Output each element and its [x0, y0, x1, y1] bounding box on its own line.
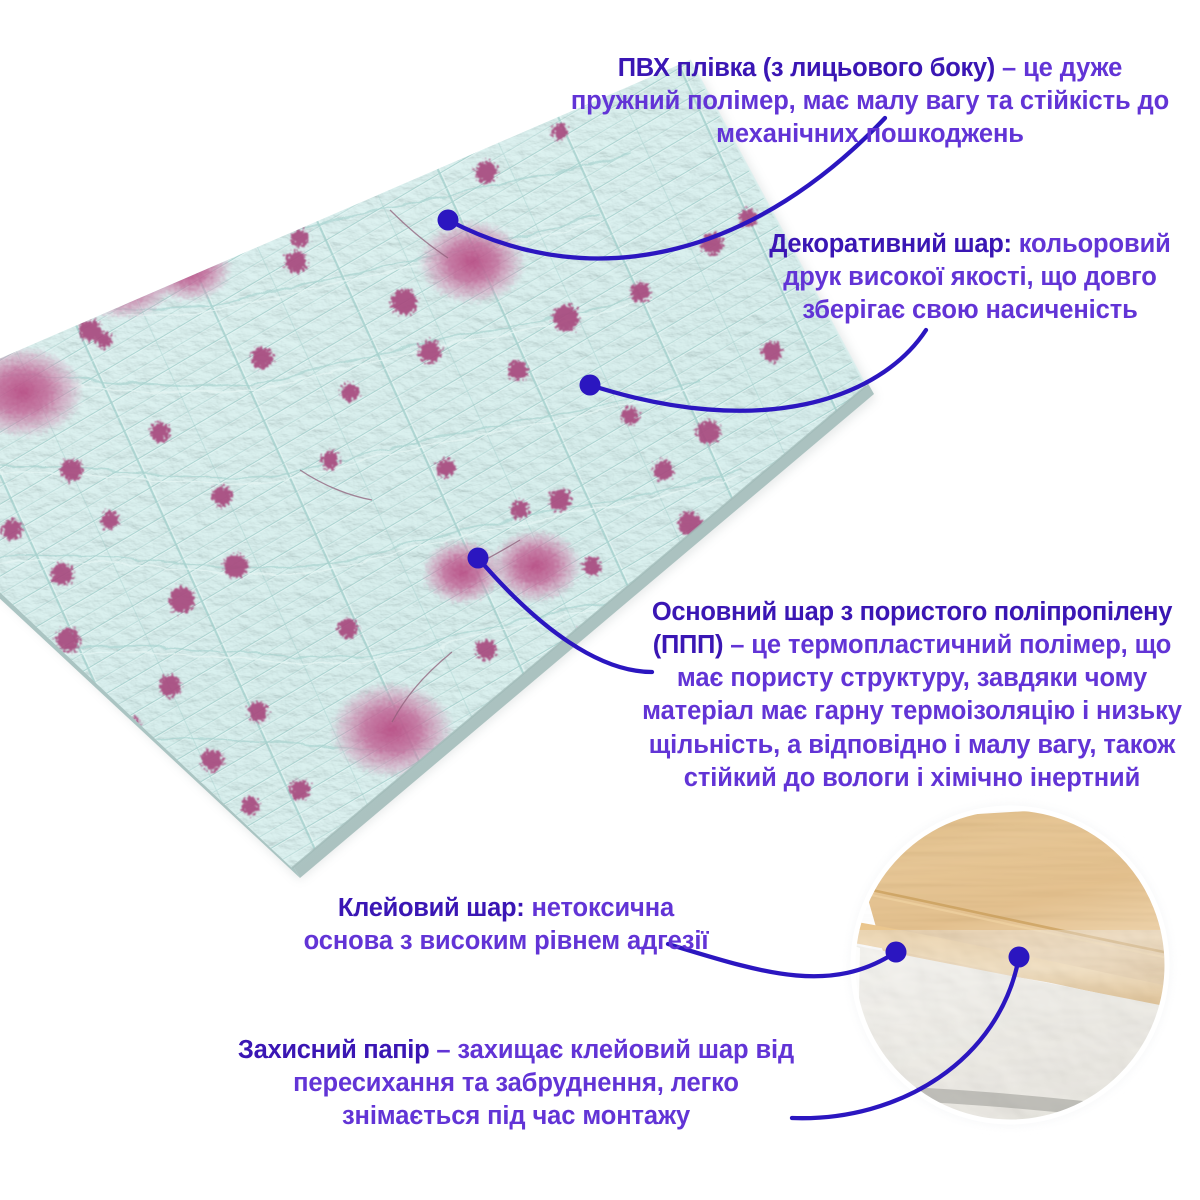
- callout-decorative-layer: Декоративний шар: кольоровий друк високо…: [760, 228, 1180, 327]
- callout-protective-paper: Захисний папір – захищає клейовий шар ві…: [236, 1034, 796, 1133]
- dot-paper: [1009, 947, 1030, 968]
- infographic-canvas: ПВХ плівка (з лицьового боку) – це дуже …: [0, 0, 1200, 1200]
- callout-protective-paper-title: Захисний папір: [238, 1036, 429, 1064]
- dot-adhesive: [886, 942, 907, 963]
- callout-adhesive-layer: Клейовий шар: нетоксична основа з високи…: [296, 892, 716, 958]
- dot-decor: [580, 375, 601, 396]
- callout-pvc-film: ПВХ плівка (з лицьового боку) – це дуже …: [560, 52, 1180, 151]
- dot-pvc: [438, 210, 459, 231]
- callout-pvc-film-title: ПВХ плівка (з лицьового боку): [618, 54, 995, 82]
- callout-decorative-layer-title: Декоративний шар:: [769, 230, 1012, 258]
- callout-ppp-core-layer: Основний шар з пористого поліпропілену (…: [636, 596, 1188, 795]
- callout-ppp-core-layer-body: – це термопластичний полімер, що має пор…: [642, 631, 1182, 792]
- callout-adhesive-layer-title: Клейовий шар:: [338, 894, 525, 922]
- dot-ppp: [468, 548, 489, 569]
